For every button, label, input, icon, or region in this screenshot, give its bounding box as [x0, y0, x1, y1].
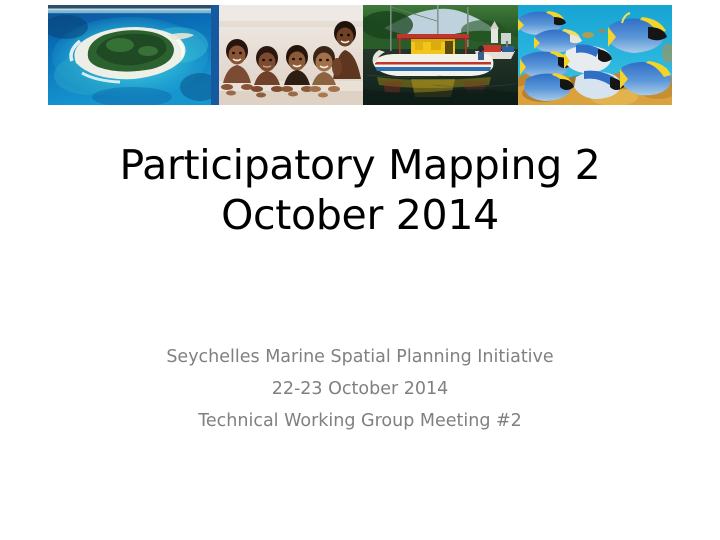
banner-image-strip: [48, 5, 672, 105]
title-line-2: October 2014: [50, 190, 670, 240]
aerial-tropical-island-illustration: [48, 5, 211, 105]
photo-powder-blue-surgeonfish-reef: [518, 5, 672, 105]
subtitle-line-3: Technical Working Group Meeting #2: [50, 405, 670, 437]
slide-subtitle: Seychelles Marine Spatial Planning Initi…: [50, 341, 670, 437]
slide-title: Participatory Mapping 2 October 2014: [50, 140, 670, 240]
surgeonfish-reef-illustration: [518, 5, 672, 105]
subtitle-line-1: Seychelles Marine Spatial Planning Initi…: [50, 341, 670, 373]
subtitle-line-2: 22-23 October 2014: [50, 373, 670, 405]
fishing-boat-harbour-illustration: [363, 5, 518, 105]
photo-children-on-beach: [211, 5, 363, 105]
children-on-beach-illustration: [211, 5, 363, 105]
photo-fishing-boat-harbour: [363, 5, 518, 105]
photo-aerial-tropical-island: [48, 5, 211, 105]
title-line-1: Participatory Mapping 2: [50, 140, 670, 190]
